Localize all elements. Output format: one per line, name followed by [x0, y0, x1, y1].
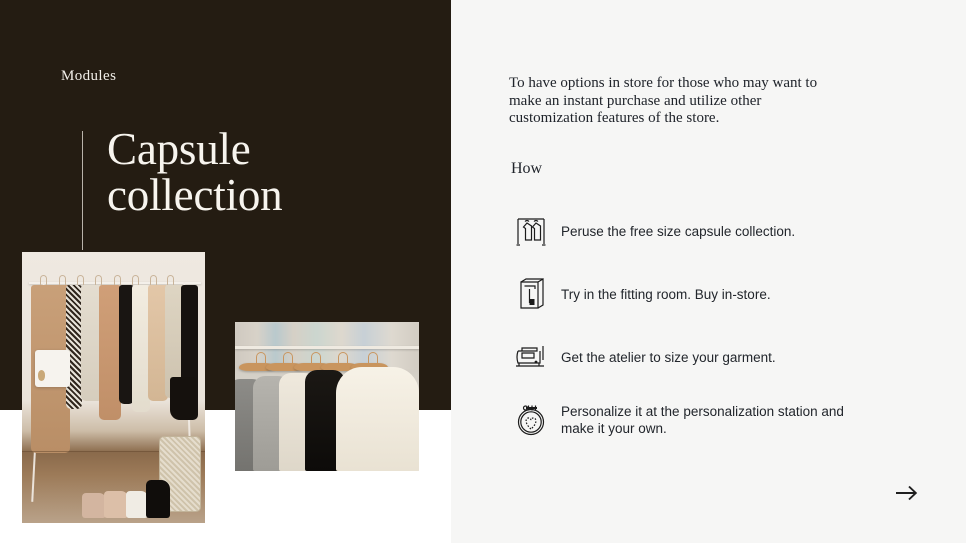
shoe: [82, 493, 106, 517]
arrow-right-icon: [894, 484, 920, 507]
hanging-garments-photo: [235, 322, 419, 471]
hanger-hook: [77, 275, 84, 285]
hanger-hook: [132, 275, 139, 285]
hanger-scene: [235, 322, 419, 471]
shoe: [126, 491, 148, 518]
list-item[interactable]: Personalize it at the personalization st…: [507, 397, 927, 443]
hanger-hook: [150, 275, 157, 285]
title-accent-rule: [82, 131, 83, 250]
list-item-label: Personalize it at the personalization st…: [555, 403, 855, 437]
hanger-hook: [95, 275, 102, 285]
garment: [336, 367, 419, 471]
list-item-label: Try in the fitting room. Buy in-store.: [555, 286, 771, 303]
hanger-hook: [114, 275, 121, 285]
slide-root: Modules Capsule collection: [0, 0, 966, 543]
rack-scene: [22, 252, 205, 523]
how-heading: How: [511, 160, 542, 178]
right-panel: To have options in store for those who m…: [451, 0, 966, 543]
black-handbag: [170, 377, 196, 420]
boot: [146, 480, 170, 518]
white-handbag: [35, 350, 70, 388]
list-item[interactable]: Peruse the free size capsule collection.: [507, 208, 927, 254]
embroidery-hoop-icon: [507, 397, 555, 443]
garment: [99, 285, 121, 421]
left-panel: Modules Capsule collection: [0, 0, 451, 543]
page-title: Capsule collection: [107, 126, 427, 218]
fitting-room-icon: [507, 271, 555, 317]
clothing-rack-photo: [22, 252, 205, 523]
shoe: [104, 491, 128, 518]
hanger-hook: [59, 275, 66, 285]
hanger-hook: [40, 275, 47, 285]
steps-list: Peruse the free size capsule collection.…: [507, 208, 927, 460]
list-item-label: Get the atelier to size your garment.: [555, 349, 776, 366]
clothing-rack-icon: [507, 208, 555, 254]
eyebrow-label: Modules: [61, 68, 116, 85]
list-item[interactable]: Try in the fitting room. Buy in-store.: [507, 271, 927, 317]
next-slide-button[interactable]: [892, 484, 922, 506]
list-item-label: Peruse the free size capsule collection.: [555, 223, 795, 240]
sewing-machine-icon: [507, 334, 555, 380]
list-item[interactable]: Get the atelier to size your garment.: [507, 334, 927, 380]
hanger-hook: [167, 275, 174, 285]
garment: [66, 285, 82, 410]
intro-paragraph: To have options in store for those who m…: [509, 75, 829, 128]
hanger-rail: [235, 346, 419, 349]
